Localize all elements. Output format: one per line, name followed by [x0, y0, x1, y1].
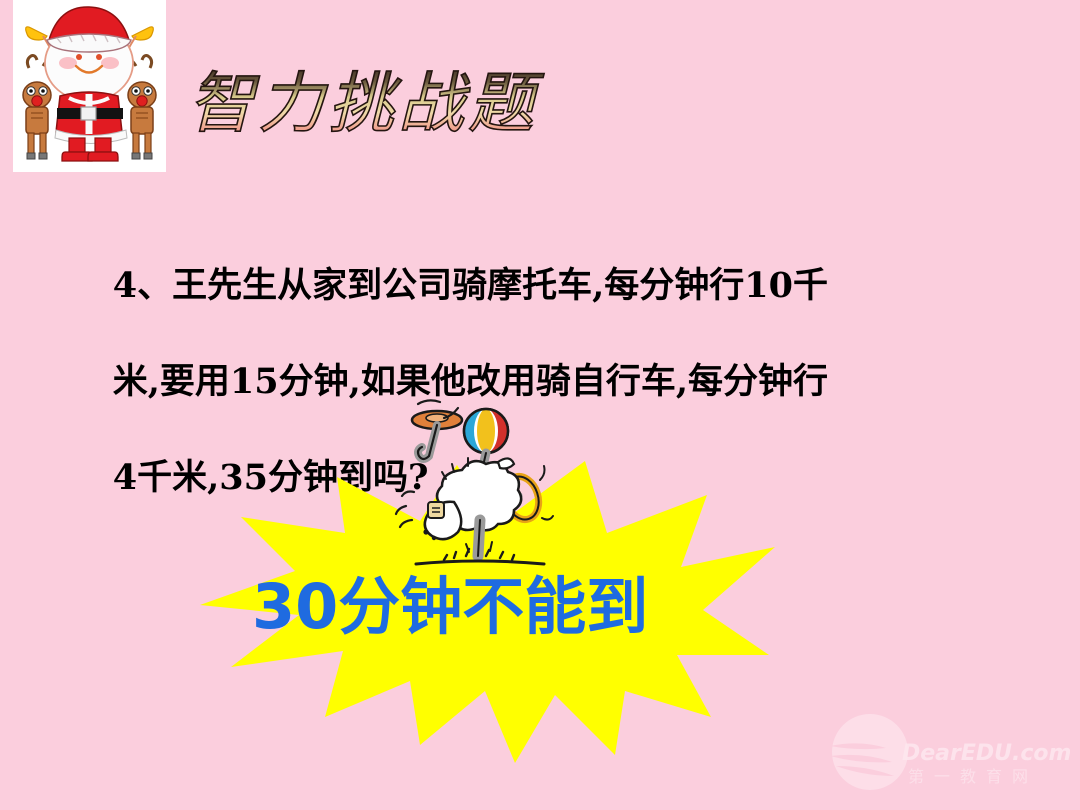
juggling-sheep-icon — [382, 392, 558, 576]
question-line-1: 4、王先生从家到公司骑摩托车,每分钟行10千 — [113, 265, 828, 306]
santa-claus-icon — [13, 0, 166, 172]
santa-clipart-box — [13, 0, 166, 172]
watermark: DearEDU.com 第一教育网 — [822, 706, 1070, 802]
title-wordart-text: 智力挑战题 — [188, 65, 545, 142]
page-title: 智力挑战题 — [186, 52, 566, 152]
answer-text: 30分钟不能到 — [252, 572, 712, 642]
watermark-subtitle: 第一教育网 — [908, 767, 1038, 786]
watermark-brand: DearEDU.com — [902, 741, 1070, 766]
slide-canvas: 智力挑战题 4、王先生从家到公司骑摩托车,每分钟行10千 米,要用15分钟,如果… — [0, 0, 1080, 810]
